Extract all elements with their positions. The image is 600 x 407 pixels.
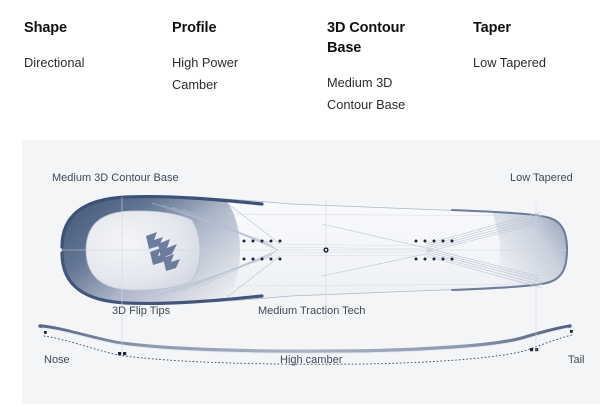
spec-title-shape: Shape xyxy=(24,18,139,38)
label-nose: Nose xyxy=(44,354,70,367)
spec-value-profile: High Power Camber xyxy=(172,52,284,96)
spec-value-shape: Directional xyxy=(24,52,136,74)
label-3d-flip-tips: 3D Flip Tips xyxy=(112,305,170,318)
label-high-camber: High camber xyxy=(280,354,342,367)
nose-contour-pocket xyxy=(86,211,200,290)
spec-value-taper: Low Tapered xyxy=(473,52,585,74)
label-medium-traction-tech: Medium Traction Tech xyxy=(258,305,365,318)
camber-board-rail xyxy=(40,326,570,351)
spec-title-profile: Profile xyxy=(172,18,287,38)
board-center-point xyxy=(323,247,328,252)
spec-column-contour-base: 3D Contour Base Medium 3D Contour Base xyxy=(304,0,451,132)
spec-title-contour-base: 3D Contour Base xyxy=(327,18,442,58)
label-low-tapered: Low Tapered xyxy=(510,172,573,185)
spec-summary-row: Shape Directional Profile High Power Cam… xyxy=(0,0,600,132)
camber-rail-highlight xyxy=(42,328,568,353)
spec-column-profile: Profile High Power Camber xyxy=(150,0,304,132)
board-diagram-panel: Medium 3D Contour Base Low Tapered 3D Fl… xyxy=(22,140,600,404)
spec-column-taper: Taper Low Tapered xyxy=(451,0,600,132)
spec-title-taper: Taper xyxy=(473,18,588,38)
snowboard-top-view xyxy=(62,196,567,320)
label-medium-3d-contour-base: Medium 3D Contour Base xyxy=(52,172,179,185)
spec-column-shape: Shape Directional xyxy=(0,0,150,132)
label-tail: Tail xyxy=(568,354,585,367)
spec-value-contour-base: Medium 3D Contour Base xyxy=(327,72,439,116)
